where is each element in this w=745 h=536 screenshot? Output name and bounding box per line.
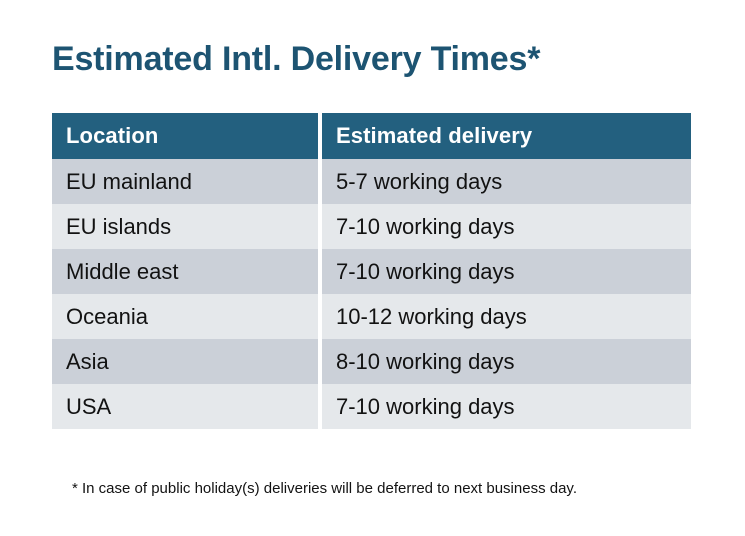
table-row: EU mainland 5-7 working days	[52, 159, 691, 204]
cell-location: USA	[52, 384, 322, 429]
column-header-location-label: Location	[52, 113, 318, 159]
table-row: Middle east 7-10 working days	[52, 249, 691, 294]
column-header-delivery-label: Estimated delivery	[322, 113, 691, 159]
cell-location: Middle east	[52, 249, 322, 294]
cell-delivery: 5-7 working days	[322, 159, 691, 204]
cell-location-label: Oceania	[52, 294, 318, 339]
cell-delivery: 7-10 working days	[322, 384, 691, 429]
table-row: USA 7-10 working days	[52, 384, 691, 429]
table-body: EU mainland 5-7 working days EU islands …	[52, 159, 691, 429]
cell-location-label: EU mainland	[52, 159, 318, 204]
cell-delivery-label: 7-10 working days	[322, 249, 691, 294]
cell-delivery: 10-12 working days	[322, 294, 691, 339]
cell-delivery-label: 7-10 working days	[322, 384, 691, 429]
table-header: Location Estimated delivery	[52, 113, 691, 159]
cell-location-label: EU islands	[52, 204, 318, 249]
cell-delivery: 7-10 working days	[322, 249, 691, 294]
cell-location-label: Middle east	[52, 249, 318, 294]
delivery-times-table: Location Estimated delivery EU mainland …	[52, 113, 691, 429]
cell-location-label: Asia	[52, 339, 318, 384]
cell-delivery: 8-10 working days	[322, 339, 691, 384]
cell-location-label: USA	[52, 384, 318, 429]
cell-delivery-label: 8-10 working days	[322, 339, 691, 384]
table-header-row: Location Estimated delivery	[52, 113, 691, 159]
cell-location: EU mainland	[52, 159, 322, 204]
table-row: Oceania 10-12 working days	[52, 294, 691, 339]
table-row: Asia 8-10 working days	[52, 339, 691, 384]
cell-delivery-label: 7-10 working days	[322, 204, 691, 249]
cell-location: EU islands	[52, 204, 322, 249]
cell-location: Asia	[52, 339, 322, 384]
column-header-delivery: Estimated delivery	[322, 113, 691, 159]
cell-delivery-label: 5-7 working days	[322, 159, 691, 204]
cell-location: Oceania	[52, 294, 322, 339]
footnote-text: * In case of public holiday(s) deliverie…	[72, 479, 577, 499]
cell-delivery-label: 10-12 working days	[322, 294, 691, 339]
page-title: Estimated Intl. Delivery Times*	[52, 38, 540, 80]
column-header-location: Location	[52, 113, 322, 159]
cell-delivery: 7-10 working days	[322, 204, 691, 249]
table-row: EU islands 7-10 working days	[52, 204, 691, 249]
